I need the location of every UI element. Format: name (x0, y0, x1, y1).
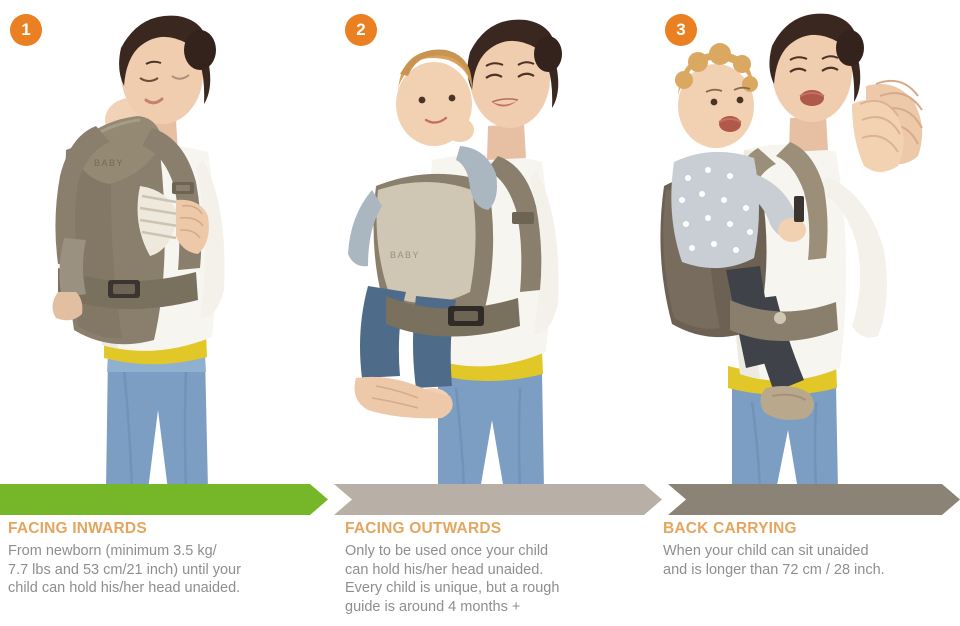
svg-text:BABY: BABY (390, 250, 420, 260)
caption-column-2: FACING OUTWARDS Only to be used once you… (345, 520, 635, 616)
timeline-banner: From birth 3 years (0, 484, 960, 515)
timeline-segment-2 (334, 484, 662, 515)
timeline-arrows (0, 484, 960, 515)
photo-back-carrying (640, 0, 960, 490)
step-badge-1: 1 (10, 14, 42, 46)
caption-title-3: BACK CARRYING (663, 520, 953, 538)
infographic-root: BABY (0, 0, 960, 626)
caption-title-2: FACING OUTWARDS (345, 520, 635, 538)
caption-body-2: Only to be used once your child can hold… (345, 542, 635, 616)
caption-column-1: FACING INWARDS From newborn (minimum 3.5… (8, 520, 308, 598)
caption-column-3: BACK CARRYING When your child can sit un… (663, 520, 953, 579)
photo-panel-3 (640, 0, 960, 490)
caption-body-3: When your child can sit unaided and is l… (663, 542, 953, 579)
photo-panel-1: BABY (0, 0, 320, 490)
svg-text:BABY: BABY (94, 158, 124, 168)
timeline-segment-3 (668, 484, 960, 515)
photo-panel-2: BABY (320, 0, 640, 490)
step-badge-3: 3 (665, 14, 697, 46)
timeline-segment-1 (0, 484, 328, 515)
caption-row: FACING INWARDS From newborn (minimum 3.5… (0, 520, 960, 626)
step-badge-2: 2 (345, 14, 377, 46)
photo-facing-outwards: BABY (320, 0, 640, 490)
caption-body-1: From newborn (minimum 3.5 kg/ 7.7 lbs an… (8, 542, 308, 598)
photo-row: BABY (0, 0, 960, 490)
caption-title-1: FACING INWARDS (8, 520, 308, 538)
photo-facing-inwards: BABY (0, 0, 320, 490)
